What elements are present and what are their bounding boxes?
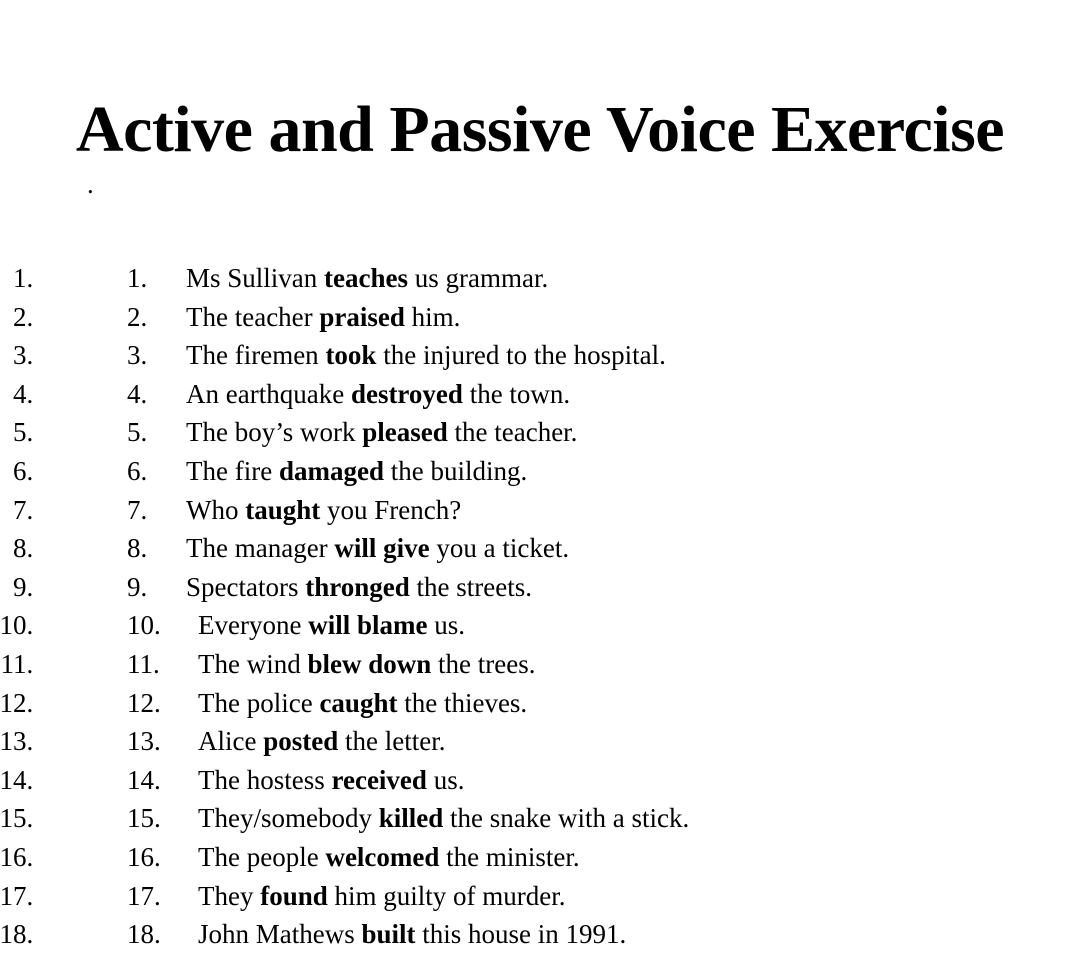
sentence-prefix: John Mathews (198, 919, 362, 949)
sentence-suffix: him. (405, 302, 461, 332)
sentence-suffix: the letter. (338, 726, 445, 756)
sentence-verb: pleased (362, 417, 448, 447)
list-item-number: 16. (127, 838, 161, 877)
sentence-verb: welcomed (325, 842, 439, 872)
list-item: 9.Spectators thronged the streets. (40, 568, 1080, 607)
list-item-sentence: The manager will give you a ticket. (186, 529, 569, 568)
sentence-suffix: you a ticket. (430, 533, 569, 563)
sentence-prefix: They (198, 881, 260, 911)
sentence-prefix: The firemen (186, 340, 325, 370)
list-item-number: 1. (127, 259, 147, 298)
stray-period-mark: . (87, 168, 94, 200)
list-item: 2.The teacher praised him. (40, 298, 1080, 337)
list-item-sentence: The teacher praised him. (186, 298, 460, 337)
sentence-prefix: The people (198, 842, 325, 872)
list-item-sentence: An earthquake destroyed the town. (186, 375, 570, 414)
sentence-suffix: the streets. (410, 572, 532, 602)
sentence-prefix: Alice (198, 726, 263, 756)
list-item-sentence: John Mathews built this house in 1991. (198, 915, 626, 954)
sentence-prefix: The teacher (186, 302, 319, 332)
document-page: Active and Passive Voice Exercise . 1.Ms… (0, 0, 1080, 959)
sentence-prefix: The manager (186, 533, 334, 563)
sentence-verb: found (260, 881, 328, 911)
list-item-sentence: They/somebody killed the snake with a st… (198, 799, 689, 838)
list-item-sentence: The boy’s work pleased the teacher. (186, 413, 577, 452)
list-item-number: 7. (127, 491, 147, 530)
list-item: 13.Alice posted the letter. (40, 722, 1080, 761)
sentence-prefix: Spectators (186, 572, 305, 602)
list-item-sentence: They found him guilty of murder. (198, 877, 566, 916)
sentence-suffix: the thieves. (397, 688, 527, 718)
sentence-verb: praised (319, 302, 405, 332)
sentence-verb: thronged (305, 572, 410, 602)
list-item-number: 2. (127, 298, 147, 337)
list-item: 3.The firemen took the injured to the ho… (40, 336, 1080, 375)
list-item-sentence: The hostess received us. (198, 761, 464, 800)
sentence-suffix: you French? (320, 495, 461, 525)
sentence-verb: caught (319, 688, 397, 718)
sentence-suffix: this house in 1991. (416, 919, 627, 949)
sentence-prefix: Who (186, 495, 245, 525)
sentence-verb: posted (263, 726, 338, 756)
list-item-number: 18. (127, 915, 161, 954)
sentence-suffix: us. (427, 765, 465, 795)
sentence-prefix: They/somebody (198, 803, 379, 833)
list-item: 17.They found him guilty of murder. (40, 877, 1080, 916)
list-item: 10.Everyone will blame us. (40, 606, 1080, 645)
sentence-prefix: The boy’s work (186, 417, 362, 447)
list-item-sentence: The fire damaged the building. (186, 452, 527, 491)
sentence-suffix: the building. (384, 456, 527, 486)
list-item: 11.The wind blew down the trees. (40, 645, 1080, 684)
list-item-number: 14. (127, 761, 161, 800)
sentence-suffix: the injured to the hospital. (376, 340, 665, 370)
list-item: 18.John Mathews built this house in 1991… (40, 915, 1080, 954)
sentence-suffix: the minister. (439, 842, 579, 872)
sentence-prefix: Ms Sullivan (186, 263, 324, 293)
list-item-sentence: Everyone will blame us. (198, 606, 465, 645)
page-title: Active and Passive Voice Exercise (0, 92, 1080, 168)
list-item-number: 9. (127, 568, 147, 607)
list-item-number: 4. (127, 375, 147, 414)
list-item-number: 15. (127, 799, 161, 838)
sentence-verb: blew down (307, 649, 431, 679)
list-item-sentence: The police caught the thieves. (198, 684, 527, 723)
sentence-suffix: the teacher. (448, 417, 578, 447)
sentence-suffix: the snake with a stick. (443, 803, 689, 833)
sentence-verb: will give (334, 533, 429, 563)
list-item: 8.The manager will give you a ticket. (40, 529, 1080, 568)
list-item-number: 13. (127, 722, 161, 761)
list-item-sentence: The wind blew down the trees. (198, 645, 535, 684)
sentence-suffix: us. (427, 610, 465, 640)
list-item-sentence: The firemen took the injured to the hosp… (186, 336, 666, 375)
sentence-verb: took (325, 340, 376, 370)
sentence-prefix: The fire (186, 456, 279, 486)
list-item-number: 6. (127, 452, 147, 491)
sentence-suffix: the trees. (431, 649, 535, 679)
list-item-number: 8. (127, 529, 147, 568)
list-item-number: 12. (127, 684, 161, 723)
list-item: 14.The hostess received us. (40, 761, 1080, 800)
sentence-prefix: An earthquake (186, 379, 351, 409)
sentence-prefix: The wind (198, 649, 307, 679)
list-item: 1.Ms Sullivan teaches us grammar. (40, 259, 1080, 298)
sentence-verb: damaged (279, 456, 384, 486)
sentence-verb: will blame (308, 610, 427, 640)
sentence-prefix: The police (198, 688, 319, 718)
list-item: 16.The people welcomed the minister. (40, 838, 1080, 877)
sentence-prefix: The hostess (198, 765, 331, 795)
list-item-sentence: Ms Sullivan teaches us grammar. (186, 259, 548, 298)
list-item-sentence: Who taught you French? (186, 491, 461, 530)
list-item-number: 5. (127, 413, 147, 452)
list-item-number: 11. (127, 645, 160, 684)
sentence-suffix: the town. (463, 379, 570, 409)
list-item: 4.An earthquake destroyed the town. (40, 375, 1080, 414)
sentence-suffix: us grammar. (408, 263, 548, 293)
list-item: 7.Who taught you French? (40, 491, 1080, 530)
sentence-prefix: Everyone (198, 610, 308, 640)
list-item-number: 3. (127, 336, 147, 375)
list-item-sentence: Alice posted the letter. (198, 722, 445, 761)
list-item: 15.They/somebody killed the snake with a… (40, 799, 1080, 838)
sentence-verb: built (362, 919, 416, 949)
list-item: 5.The boy’s work pleased the teacher. (40, 413, 1080, 452)
list-item-sentence: The people welcomed the minister. (198, 838, 580, 877)
sentence-verb: teaches (324, 263, 408, 293)
list-item-number: 17. (127, 877, 161, 916)
list-item-sentence: Spectators thronged the streets. (186, 568, 532, 607)
sentence-verb: killed (379, 803, 444, 833)
list-item: 6.The fire damaged the building. (40, 452, 1080, 491)
sentence-verb: taught (245, 495, 320, 525)
list-item: 12.The police caught the thieves. (40, 684, 1080, 723)
list-item-number: 10. (127, 606, 161, 645)
exercise-list: 1.Ms Sullivan teaches us grammar.2.The t… (0, 259, 1080, 954)
sentence-suffix: him guilty of murder. (328, 881, 566, 911)
sentence-verb: received (331, 765, 426, 795)
sentence-verb: destroyed (351, 379, 463, 409)
